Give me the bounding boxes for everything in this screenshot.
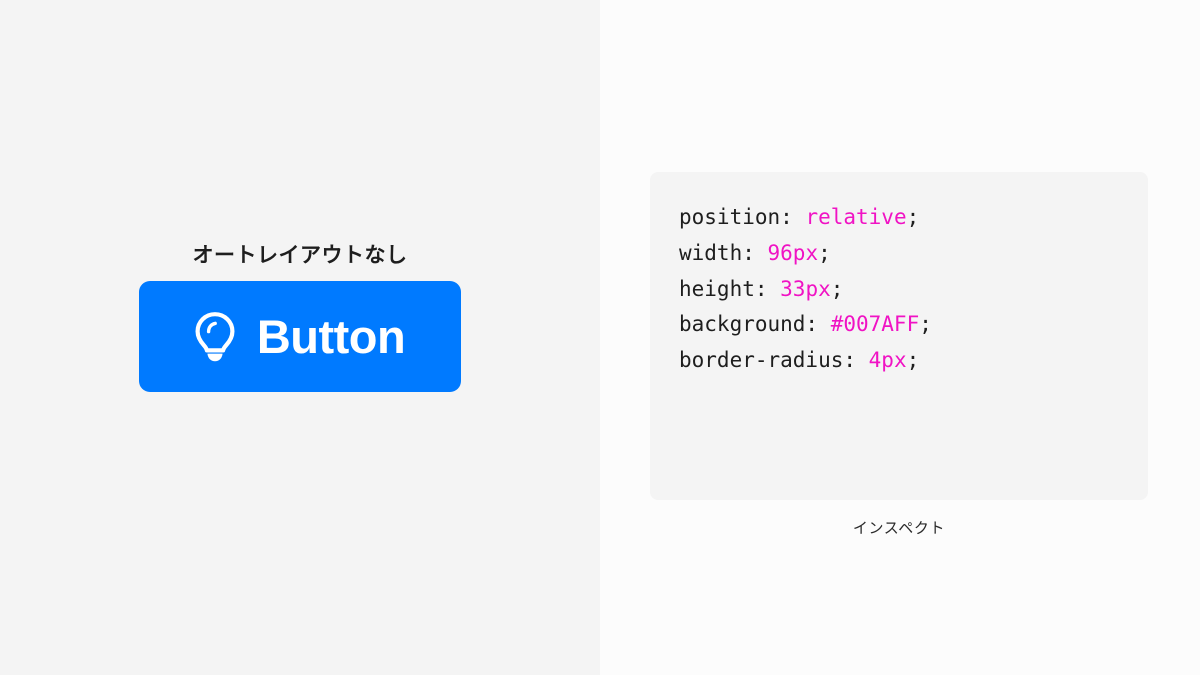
css-code-block: position: relative; width: 96px; height:… <box>679 200 1148 379</box>
code-line: position: relative; <box>679 200 1148 236</box>
lightbulb-icon <box>195 311 235 363</box>
design-preview-panel: オートレイアウトなし Button <box>0 0 600 675</box>
code-value: 33px <box>780 277 831 301</box>
code-line: background: #007AFF; <box>679 307 1148 343</box>
code-value: relative <box>805 205 906 229</box>
code-property: background: <box>679 312 831 336</box>
code-terminator: ; <box>907 205 920 229</box>
demo-button-label: Button <box>257 313 405 360</box>
code-value: 96px <box>768 241 819 265</box>
comparison-stage: オートレイアウトなし Button position: relative; wi… <box>0 0 1200 675</box>
code-property: border-radius: <box>679 348 869 372</box>
page-title: オートレイアウトなし <box>0 243 600 268</box>
code-value: #007AFF <box>831 312 920 336</box>
code-line: width: 96px; <box>679 236 1148 272</box>
demo-button[interactable]: Button <box>139 281 461 392</box>
code-property: width: <box>679 241 768 265</box>
code-value: 4px <box>869 348 907 372</box>
code-property: position: <box>679 205 805 229</box>
inspect-panel: position: relative; width: 96px; height:… <box>600 0 1200 675</box>
inspect-caption: インスペクト <box>650 517 1148 538</box>
code-property: height: <box>679 277 780 301</box>
code-line: border-radius: 4px; <box>679 343 1148 379</box>
code-terminator: ; <box>831 277 844 301</box>
code-terminator: ; <box>919 312 932 336</box>
code-line: height: 33px; <box>679 272 1148 308</box>
code-terminator: ; <box>907 348 920 372</box>
code-card: position: relative; width: 96px; height:… <box>650 172 1148 500</box>
code-terminator: ; <box>818 241 831 265</box>
